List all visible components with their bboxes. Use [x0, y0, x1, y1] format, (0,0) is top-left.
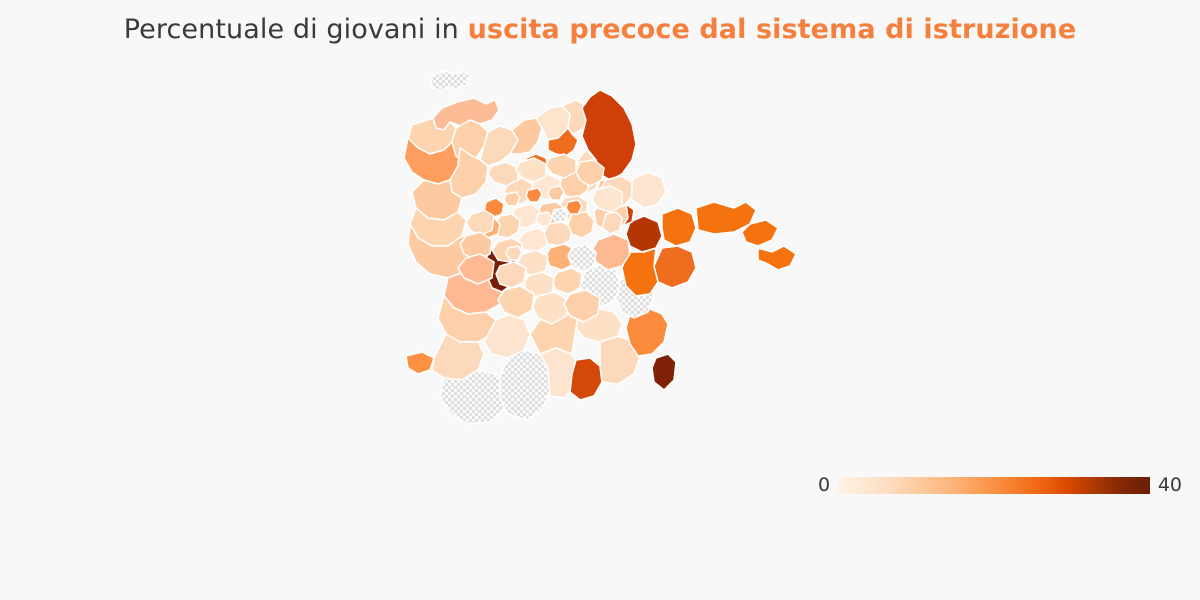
- zone-infill-south[interactable]: [552, 268, 582, 294]
- zone-center-appio[interactable]: [568, 212, 594, 238]
- zone-north-tomba-nerone[interactable]: [510, 118, 542, 154]
- legend-max-label: 40: [1158, 476, 1182, 495]
- legend-gradient-bar: [838, 477, 1150, 494]
- zone-center-small-5[interactable]: [566, 200, 582, 214]
- title-accent-text: uscita precoce dal sistema di istruzione: [468, 14, 1077, 45]
- zone-center-small-4[interactable]: [548, 186, 564, 200]
- zone-east-settecamini[interactable]: [662, 208, 696, 246]
- zone-infill-south-4[interactable]: [498, 286, 534, 318]
- zone-east-torre-angela[interactable]: [654, 246, 696, 288]
- zone-center-small-6[interactable]: [506, 246, 522, 260]
- zone-center-small-3[interactable]: [526, 188, 542, 202]
- title-plain-text: Percentuale di giovani in: [124, 14, 468, 45]
- zone-center-aventino[interactable]: [518, 228, 548, 252]
- color-legend: 0 40: [818, 470, 1182, 500]
- zone-southwest-nodata-riserva[interactable]: [440, 370, 508, 424]
- zone-east-tail-castelverde[interactable]: [758, 246, 796, 270]
- zone-polygons: [404, 71, 796, 424]
- zone-infill-south-3[interactable]: [496, 262, 526, 288]
- zone-nodata-north-islet[interactable]: [431, 71, 470, 91]
- page-title: Percentuale di giovani in uscita precoce…: [0, 13, 1200, 47]
- zone-east-pale-a[interactable]: [628, 172, 666, 208]
- legend-min-label: 0: [818, 476, 830, 495]
- zone-south-nodata-agro[interactable]: [500, 350, 550, 420]
- choropleth-map[interactable]: [400, 62, 820, 462]
- zone-center-nodata-small[interactable]: [552, 208, 568, 222]
- zone-southeast-dark-spot[interactable]: [652, 354, 676, 390]
- zone-center-small-8[interactable]: [504, 192, 520, 206]
- figure-canvas: Percentuale di giovani in uscita precoce…: [0, 0, 1200, 600]
- zone-center-small-7[interactable]: [536, 212, 552, 226]
- zone-infill-north[interactable]: [488, 162, 518, 186]
- zone-south-torde-cenci-dark[interactable]: [570, 358, 602, 400]
- zone-southwest-arrow[interactable]: [406, 352, 434, 374]
- zone-infill-east[interactable]: [602, 212, 622, 234]
- map-svg: [400, 62, 820, 462]
- zone-infill-north-3[interactable]: [546, 154, 576, 178]
